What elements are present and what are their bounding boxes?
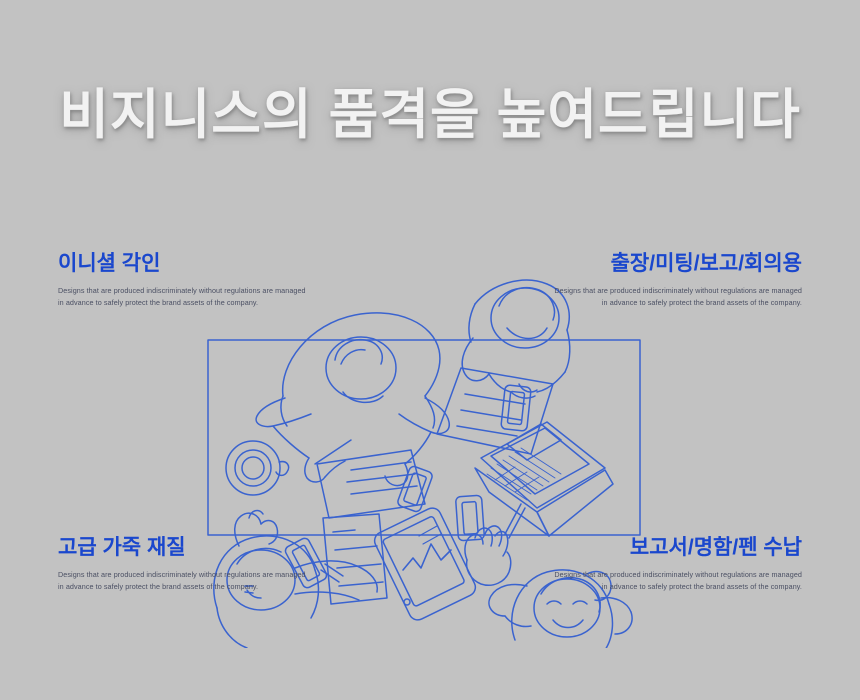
feature-body-business-trip-meeting-report: Designs that are produced indiscriminate…: [552, 285, 802, 308]
feature-title-business-trip-meeting-report: 출장/미팅/보고/회의용: [552, 252, 802, 276]
feature-body-initial-engraving: Designs that are produced indiscriminate…: [58, 285, 308, 308]
tablet-with-chart: [372, 505, 479, 623]
laptop: [475, 422, 613, 536]
smartphone-bottom: [455, 495, 484, 541]
head-top: [326, 337, 396, 399]
coffee-cup: [226, 441, 289, 495]
feature-title-initial-engraving: 이니셜 각인: [58, 252, 308, 276]
page-title: 비지니스의 품격을 높여드립니다: [0, 86, 860, 145]
feature-block-premium-leather-material: 고급 가죽 재질 Designs that are produced indis…: [58, 536, 308, 592]
conference-table: [208, 340, 640, 535]
feature-block-initial-engraving: 이니셜 각인 Designs that are produced indiscr…: [58, 252, 308, 308]
feature-body-report-card-pen-storage: Designs that are produced indiscriminate…: [552, 569, 802, 592]
document-paper-right: [437, 368, 553, 454]
feature-body-premium-leather-material: Designs that are produced indiscriminate…: [58, 569, 308, 592]
person-top-writing: [256, 313, 449, 518]
hand-with-pen: [465, 504, 525, 585]
poster-canvas: 비지니스의 품격을 높여드립니다: [0, 0, 860, 700]
feature-title-report-card-pen-storage: 보고서/명함/펜 수납: [552, 536, 802, 560]
feature-title-premium-leather-material: 고급 가죽 재질: [58, 536, 308, 560]
smartphone-top: [397, 465, 434, 513]
feature-block-report-card-pen-storage: 보고서/명함/펜 수납 Designs that are produced in…: [552, 536, 802, 592]
feature-block-business-trip-meeting-report: 출장/미팅/보고/회의용 Designs that are produced i…: [552, 252, 802, 308]
